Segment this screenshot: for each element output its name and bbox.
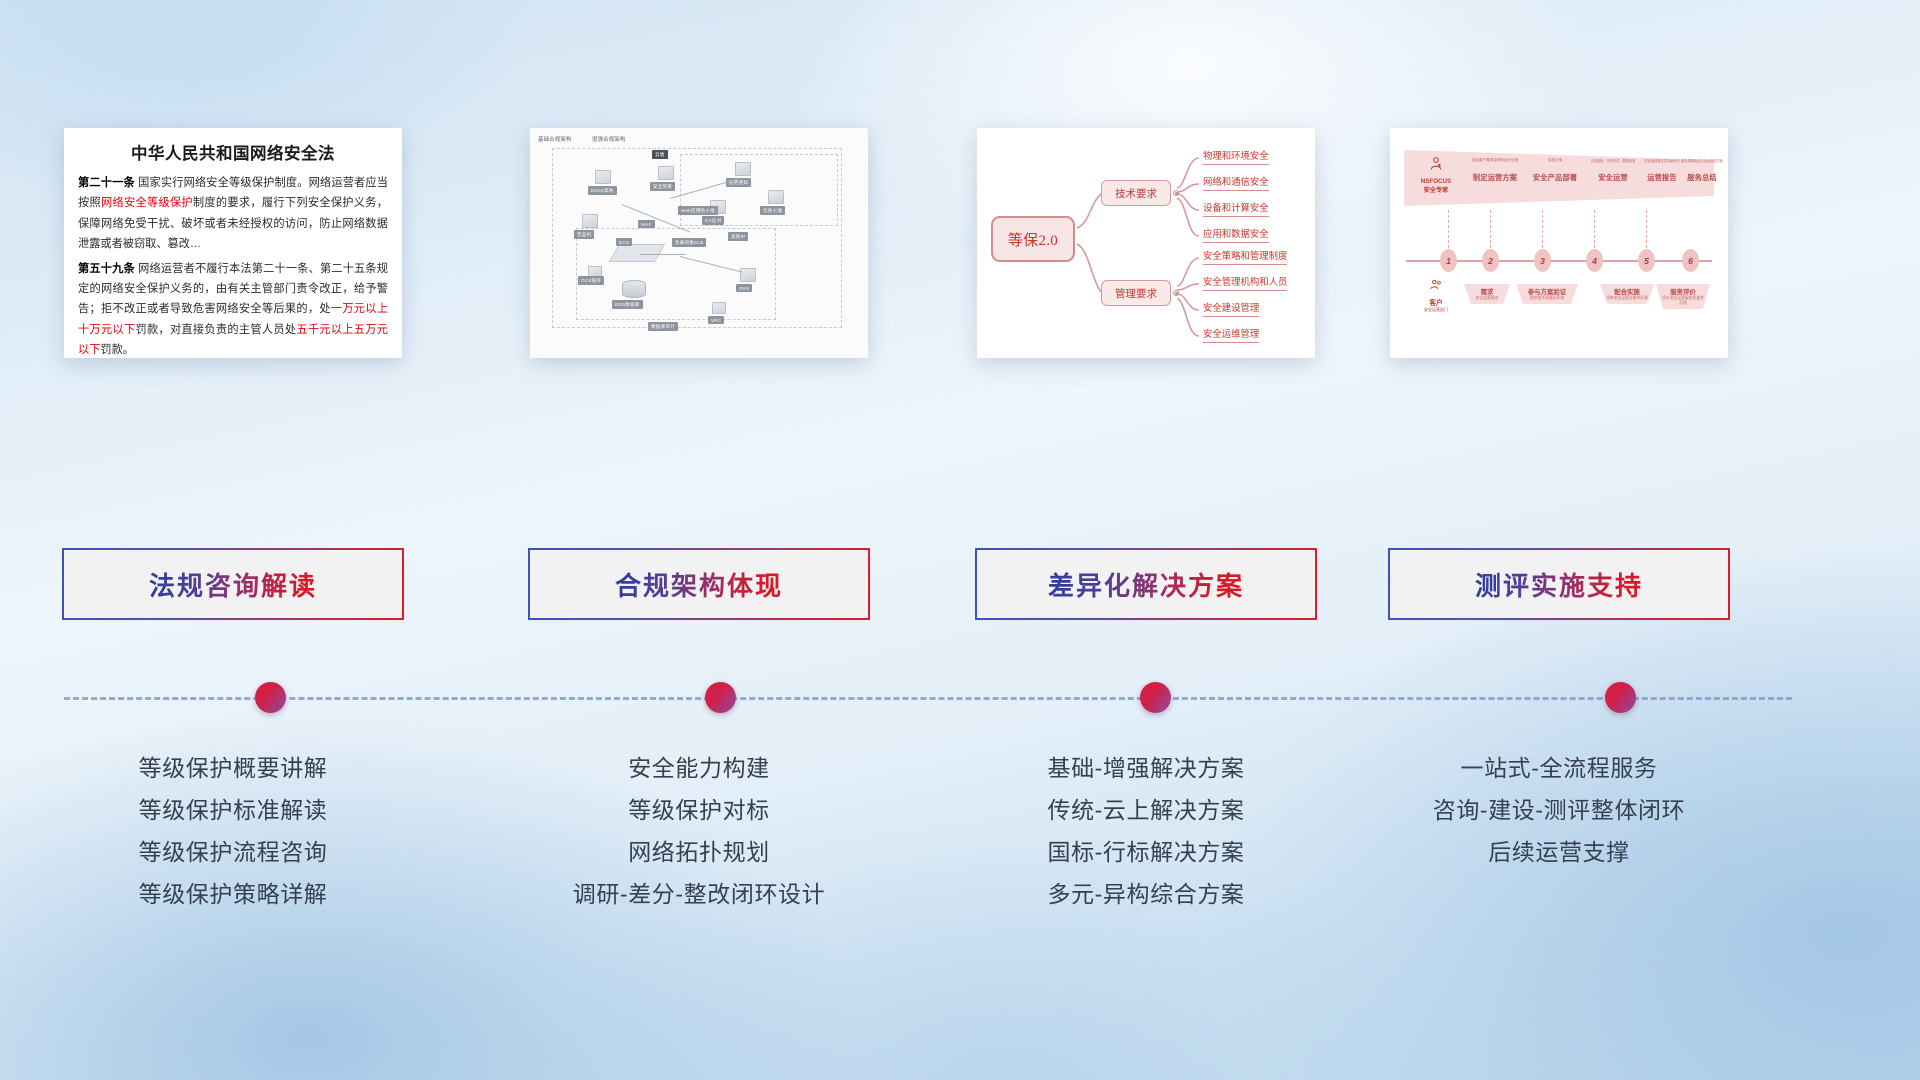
column-list-regulation-consulting: 等级保护概要讲解 等级保护标准解读 等级保护流程咨询 等级保护策略详解 (64, 748, 402, 915)
list-item: 多元-异构综合方案 (955, 874, 1337, 916)
service-columns: 法规咨询解读 合规架构体现 差异化解决方案 测评实施支持 等级保护概要讲解 等级… (0, 0, 1920, 1080)
list-item: 等级保护对标 (506, 790, 892, 832)
list-item: 基础-增强解决方案 (955, 748, 1337, 790)
list-item: 等级保护流程咨询 (64, 832, 402, 874)
timeline-dot[interactable] (705, 682, 736, 713)
list-item: 一站式-全流程服务 (1368, 748, 1750, 790)
list-item: 后续运营支撑 (1368, 832, 1750, 874)
column-list-compliance-architecture: 安全能力构建 等级保护对标 网络拓扑规划 调研-差分-整改闭环设计 (506, 748, 892, 915)
column-header-compliance-architecture[interactable]: 合规架构体现 (530, 550, 868, 618)
column-header-regulation-consulting[interactable]: 法规咨询解读 (64, 550, 402, 618)
list-item: 等级保护策略详解 (64, 874, 402, 916)
list-item: 等级保护标准解读 (64, 790, 402, 832)
column-header-label: 测评实施支持 (1475, 566, 1643, 603)
list-item: 等级保护概要讲解 (64, 748, 402, 790)
timeline-dashed-line (64, 697, 1792, 700)
list-item: 安全能力构建 (506, 748, 892, 790)
list-item: 咨询-建设-测评整体闭环 (1368, 790, 1750, 832)
timeline-dot[interactable] (255, 682, 286, 713)
column-header-label: 差异化解决方案 (1048, 566, 1244, 603)
column-header-label: 法规咨询解读 (149, 566, 317, 603)
list-item: 国标-行标解决方案 (955, 832, 1337, 874)
list-item: 网络拓扑规划 (506, 832, 892, 874)
column-list-differentiated-solution: 基础-增强解决方案 传统-云上解决方案 国标-行标解决方案 多元-异构综合方案 (955, 748, 1337, 915)
timeline-dot[interactable] (1140, 682, 1171, 713)
column-list-assessment-support: 一站式-全流程服务 咨询-建设-测评整体闭环 后续运营支撑 (1368, 748, 1750, 874)
column-header-assessment-support[interactable]: 测评实施支持 (1390, 550, 1728, 618)
column-header-differentiated-solution[interactable]: 差异化解决方案 (977, 550, 1315, 618)
list-item: 调研-差分-整改闭环设计 (506, 874, 892, 916)
column-header-label: 合规架构体现 (615, 566, 783, 603)
list-item: 传统-云上解决方案 (955, 790, 1337, 832)
timeline-dot[interactable] (1605, 682, 1636, 713)
